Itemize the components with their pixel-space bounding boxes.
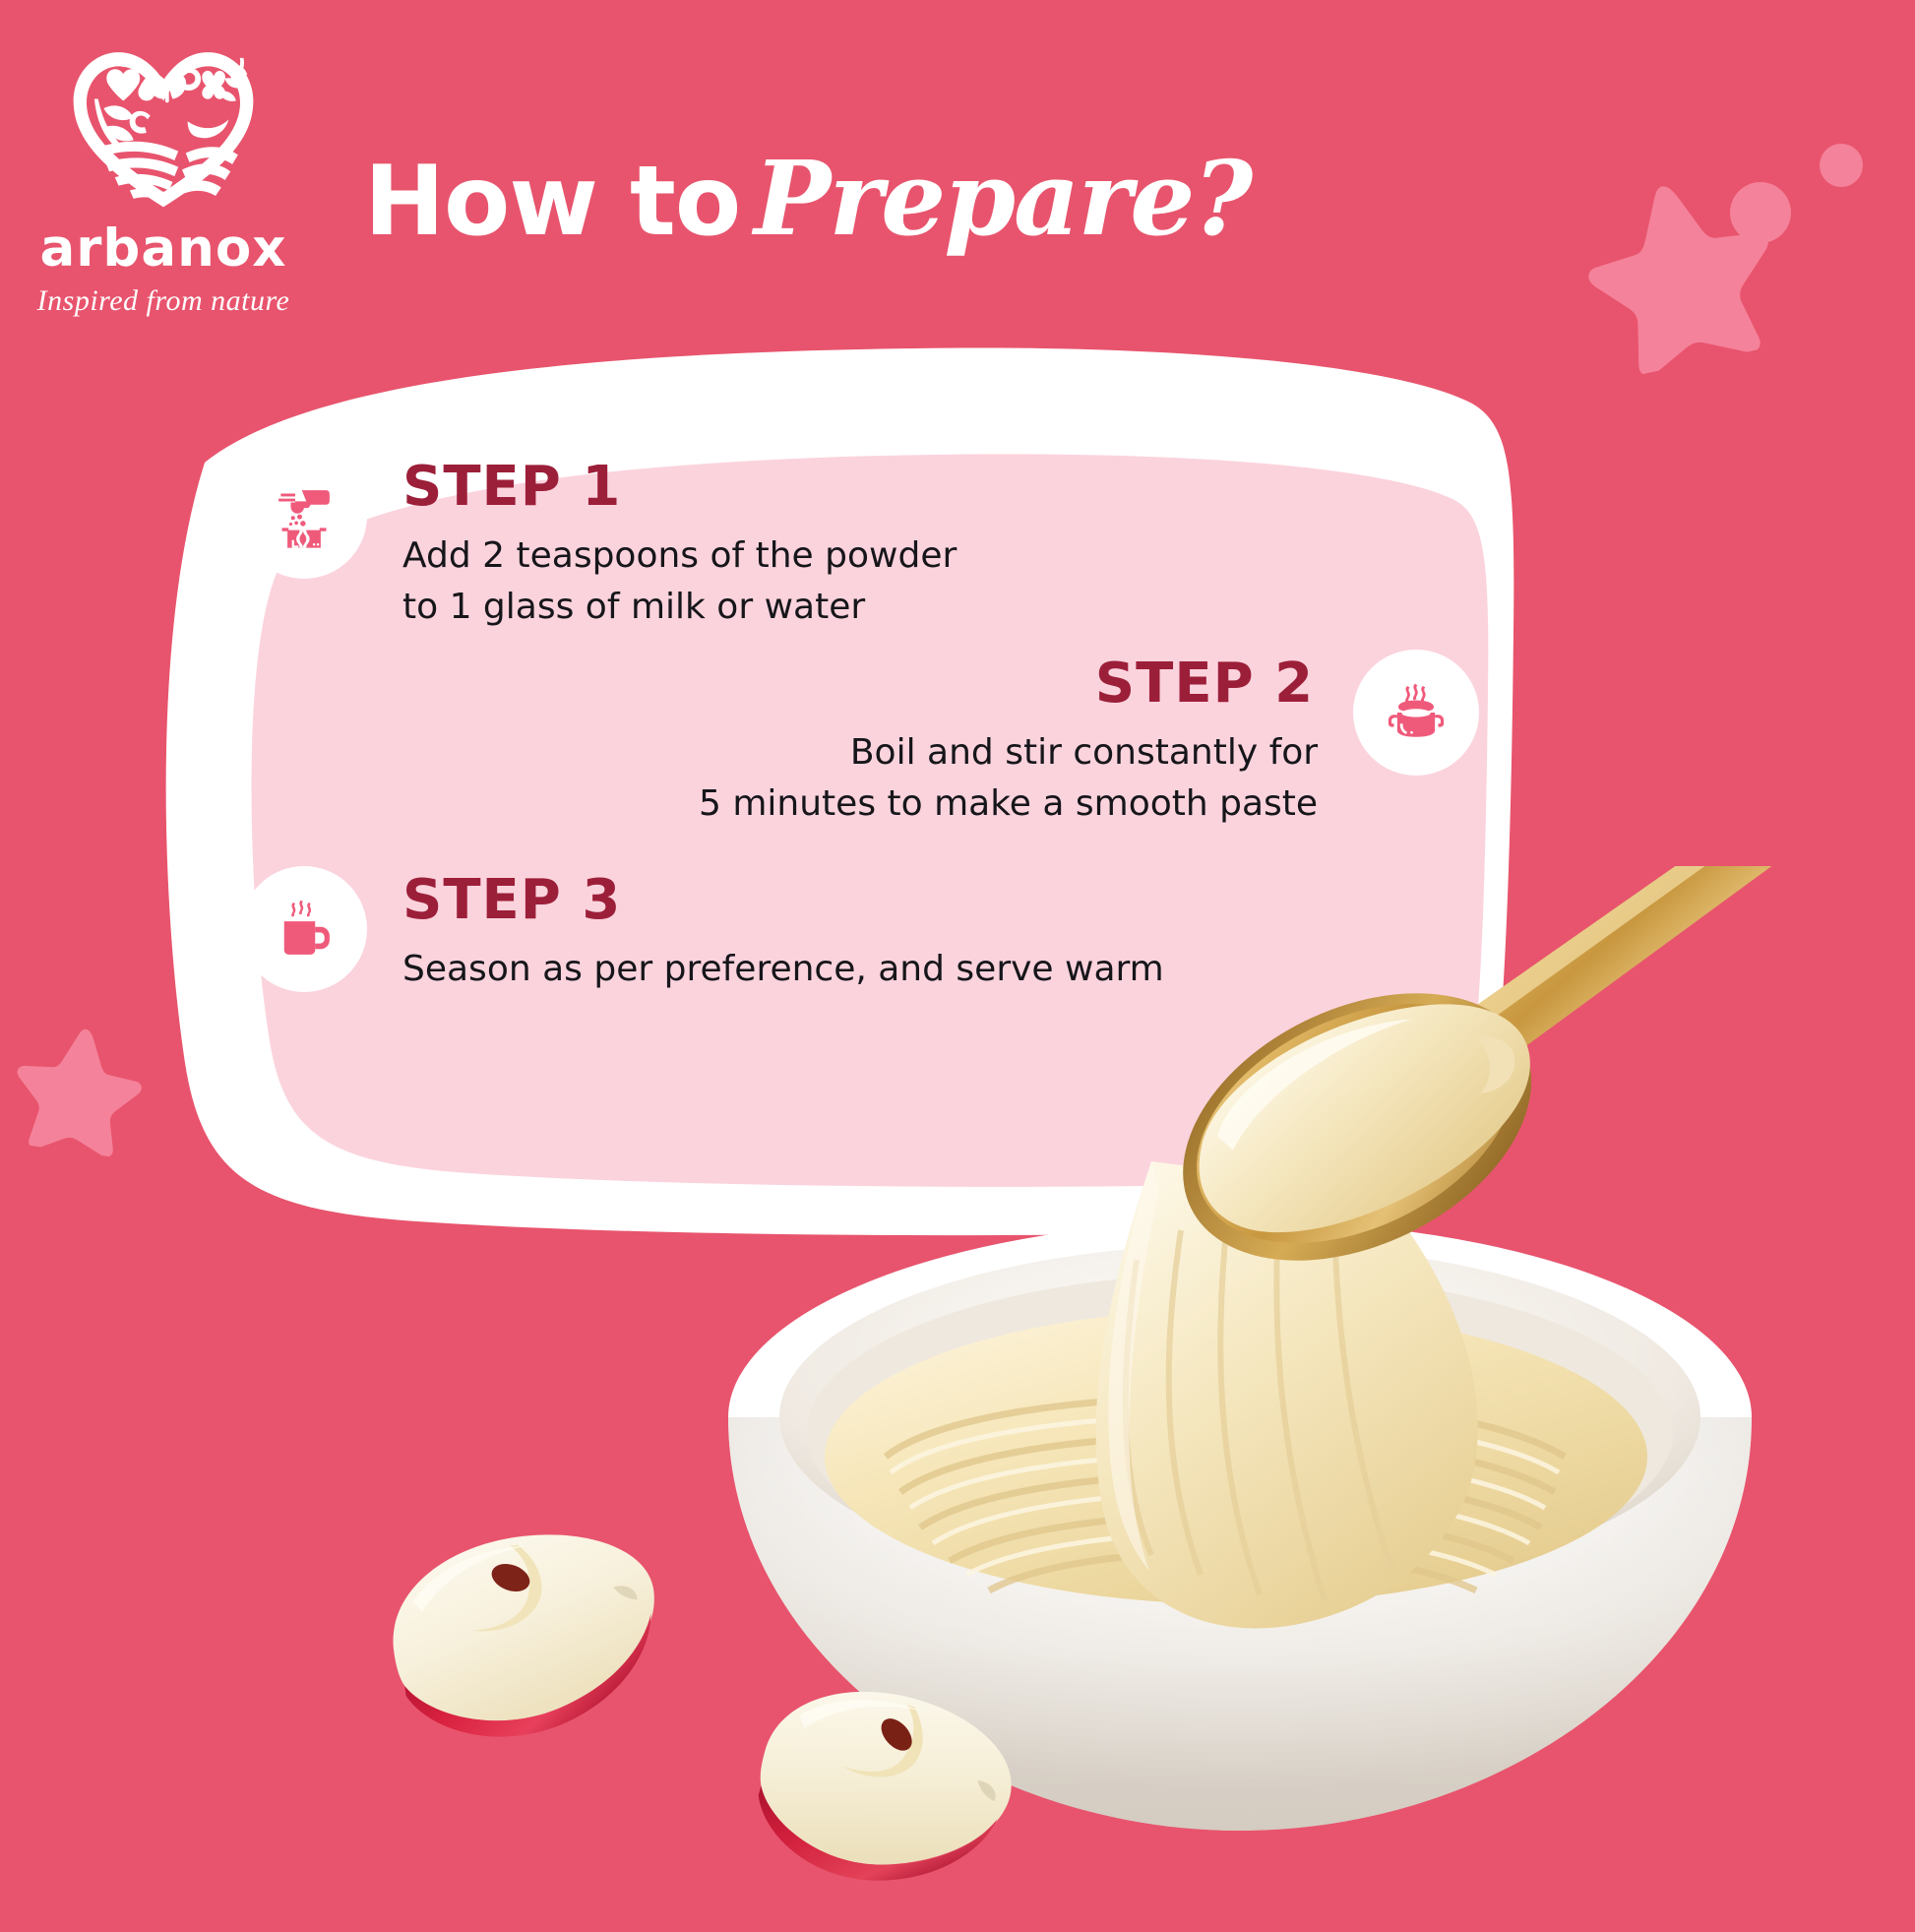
decor-dot-large <box>1730 182 1791 243</box>
page-title-part1: How to <box>364 146 740 258</box>
steaming-pot-icon <box>1353 650 1479 776</box>
step-item-2: STEP 2 Boil and stir constantly for 5 mi… <box>699 650 1479 830</box>
poster-canvas: arbanox Inspired from nature How toPrepa… <box>0 0 1915 1915</box>
steaming-mug-icon <box>241 866 367 992</box>
ornamental-heart-logo-icon <box>60 37 267 215</box>
decor-dot-small <box>1820 144 1863 187</box>
brand-logo: arbanox Inspired from nature <box>26 37 301 318</box>
page-title-part2: Prepare? <box>754 138 1251 259</box>
page-title: How toPrepare? <box>364 138 1250 259</box>
brand-tagline: Inspired from nature <box>26 284 301 318</box>
step-2-title: STEP 2 <box>699 655 1314 714</box>
apple-slice-1-photo <box>364 1497 680 1771</box>
step-item-1: STEP 1 Add 2 teaspoons of the powder to … <box>241 453 957 633</box>
step-2-text: STEP 2 Boil and stir constantly for 5 mi… <box>699 650 1318 830</box>
step-1-title: STEP 1 <box>402 459 957 517</box>
step-2-description: Boil and stir constantly for 5 minutes t… <box>699 727 1318 830</box>
step-1-text: STEP 1 Add 2 teaspoons of the powder to … <box>402 453 957 633</box>
step-1-description: Add 2 teaspoons of the powder to 1 glass… <box>402 530 957 633</box>
brand-name: arbanox <box>26 222 301 275</box>
hand-pouring-powder-icon <box>241 453 367 579</box>
